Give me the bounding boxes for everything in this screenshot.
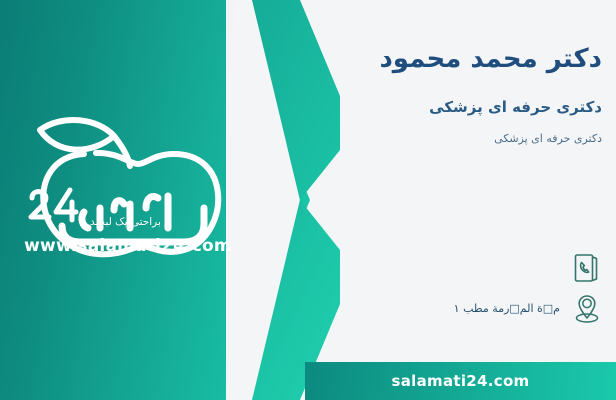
contact-row-address[interactable]: م□ة الم□رمة مطب ١ (328, 288, 604, 328)
doctor-profile-card: براحتی یک لبخند www.salamati24.com دکتر … (0, 0, 616, 400)
logo-website-url: www.salamati24.com (18, 236, 238, 256)
footer-website[interactable]: salamati24.com (392, 372, 530, 390)
doctor-name: دکتر محمد محمود (332, 44, 602, 75)
phone-book-icon (570, 249, 604, 287)
doctor-specialty: دکتری حرفه ای پزشکی (332, 98, 602, 118)
doctor-info-panel: دکتر محمد محمود دکتری حرفه ای پزشکی دکتر… (318, 0, 616, 400)
salamati24-logo: براحتی یک لبخند www.salamati24.com (18, 112, 238, 272)
logo-tagline: براحتی یک لبخند (28, 216, 238, 228)
contact-row-address-label: م□ة الم□رمة مطب ١ (454, 302, 560, 315)
footer-bar: salamati24.com (305, 362, 616, 400)
location-pin-icon (570, 289, 604, 327)
doctor-specialty-secondary: دکتری حرفه ای پزشکی (332, 132, 602, 146)
contact-list: م□ة الم□رمة مطب ١ (328, 248, 604, 328)
contact-row-phone[interactable] (328, 248, 604, 288)
